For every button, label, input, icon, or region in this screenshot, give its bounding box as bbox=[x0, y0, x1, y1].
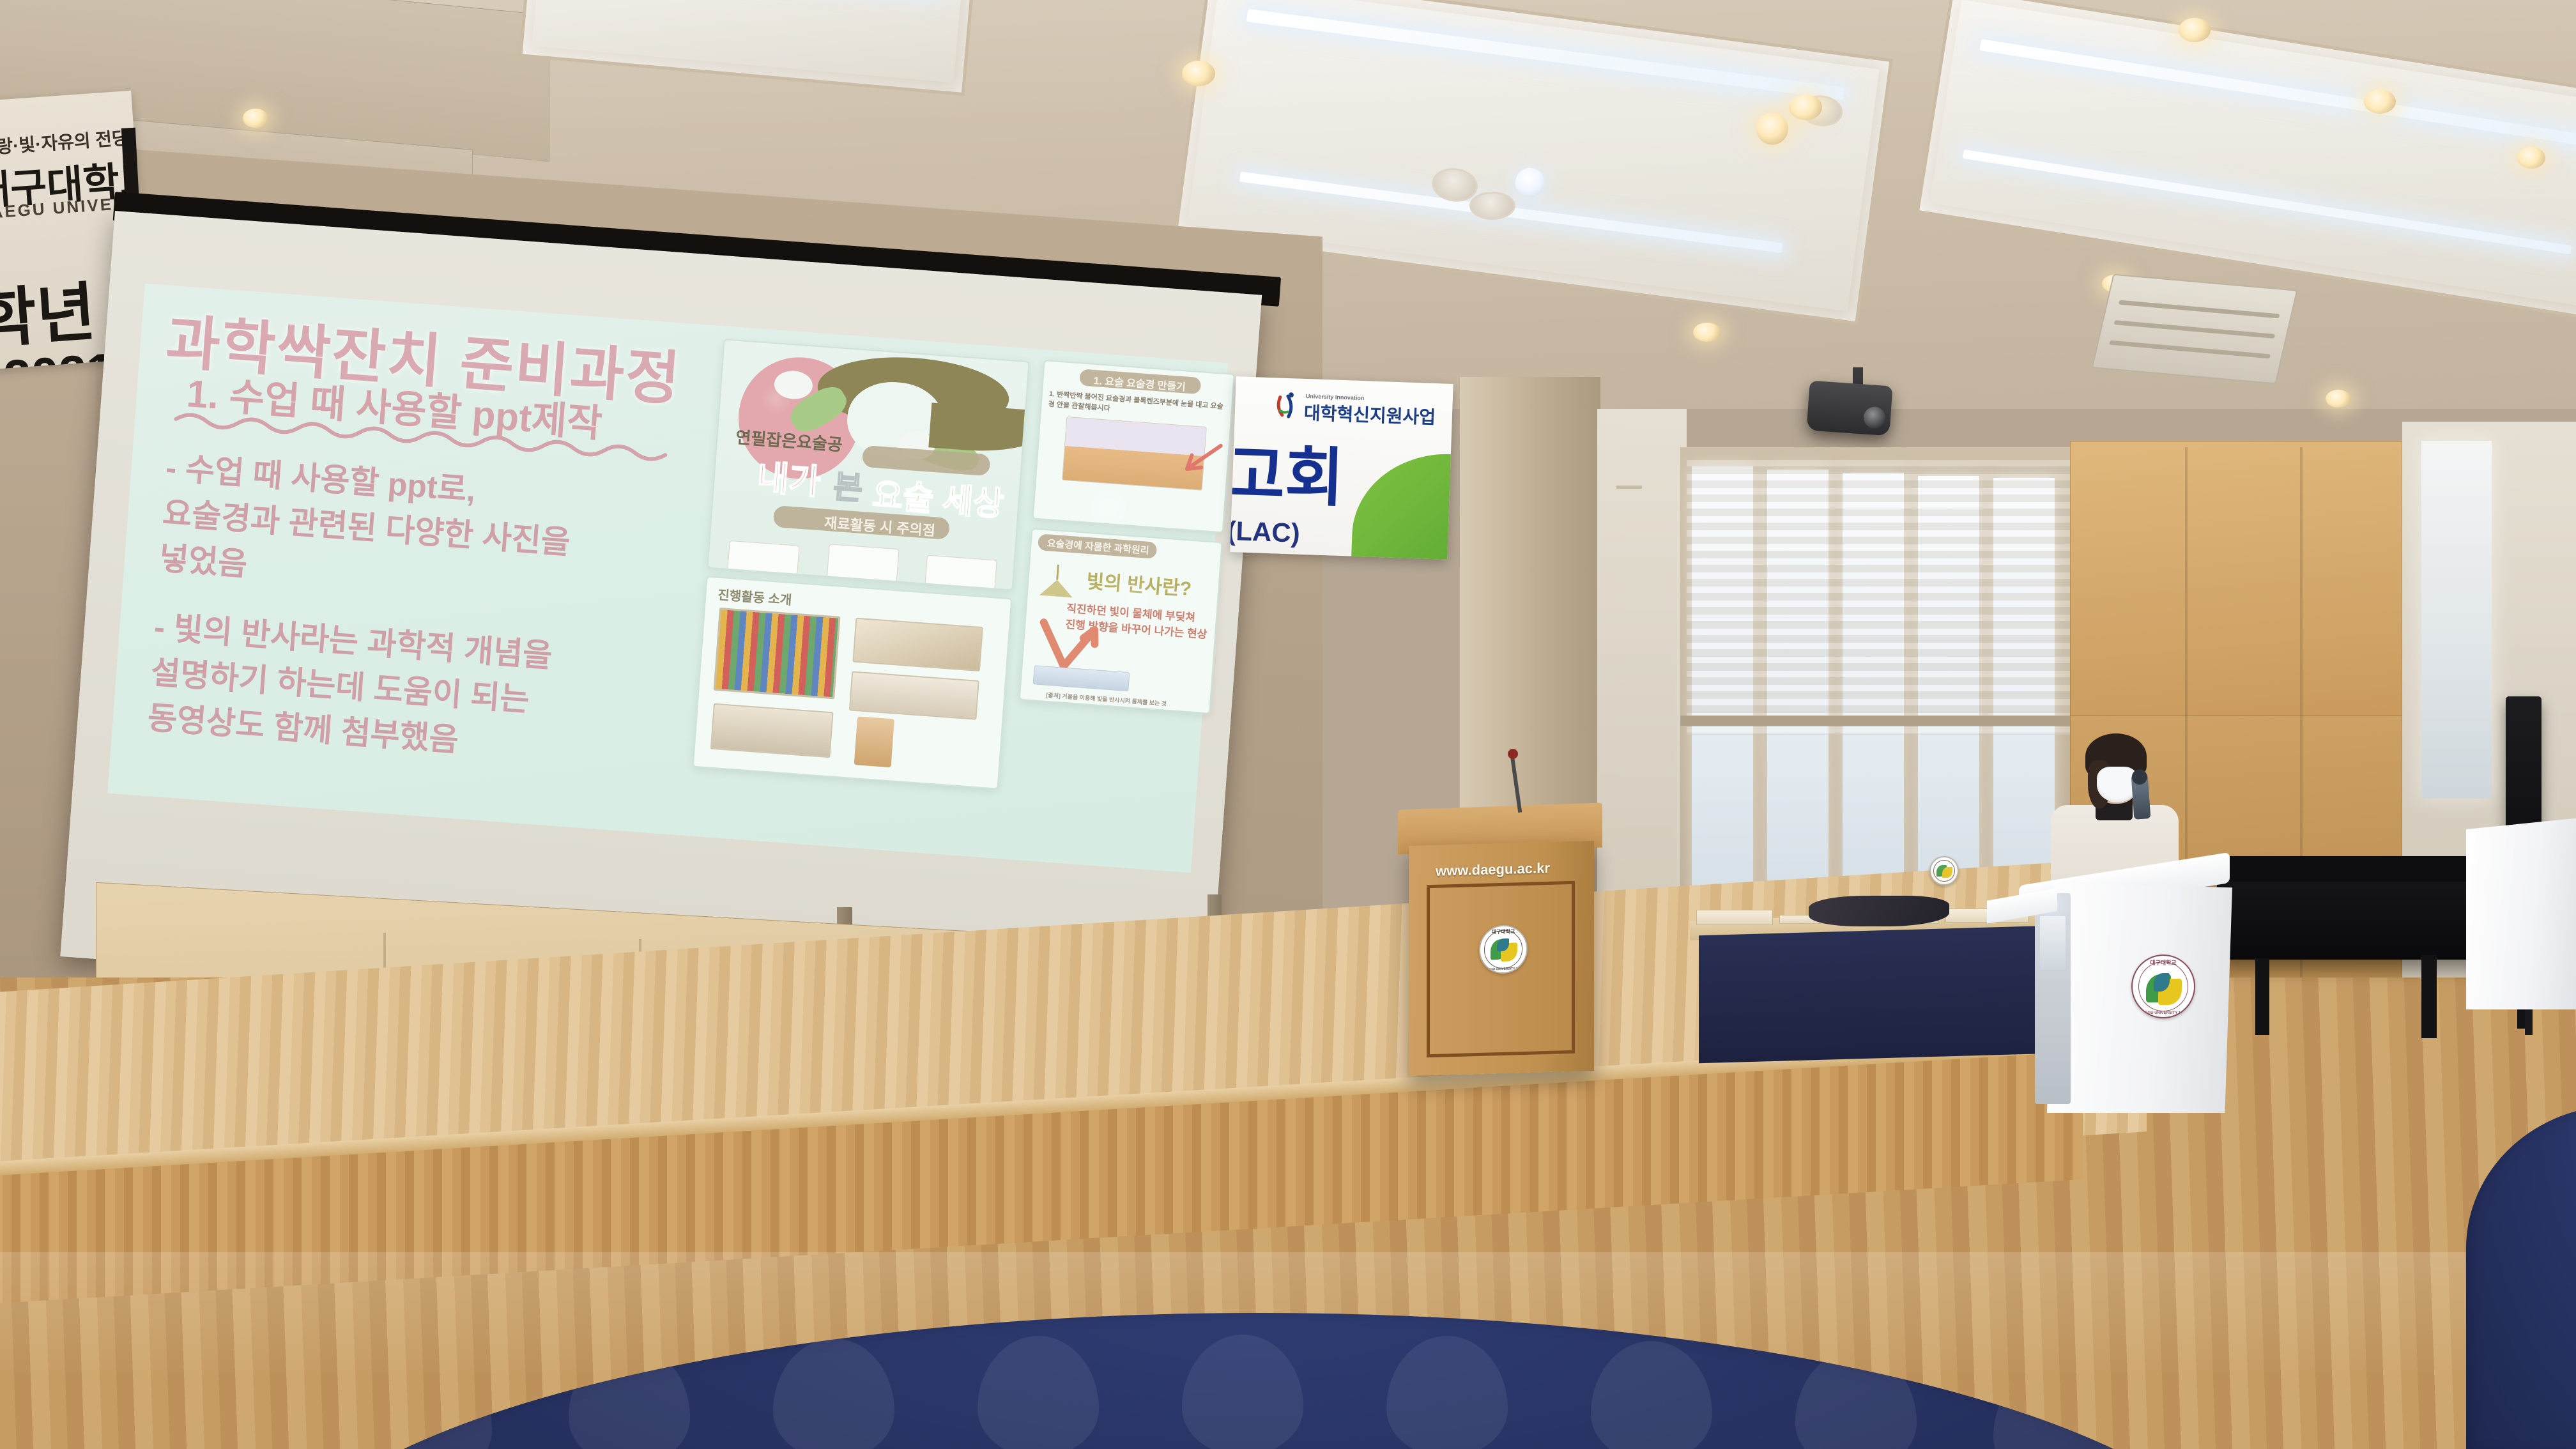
side-cabinet bbox=[2466, 818, 2576, 1009]
slide-panel-principle: 요술경에 자물한 과학원리 빛의 반사란? 직진하던 빛이 물체에 부딪쳐 진행… bbox=[1019, 528, 1223, 714]
projector-lens-icon bbox=[1863, 406, 1886, 429]
podium-microphone-icon[interactable] bbox=[1508, 749, 1518, 759]
downlight-icon bbox=[2326, 390, 2351, 408]
carpet-motif bbox=[773, 1338, 894, 1449]
window-blinds[interactable] bbox=[1687, 460, 2070, 735]
banner-title: 고회 bbox=[1230, 422, 1345, 519]
thumb-photo-tape bbox=[849, 671, 979, 719]
slide-panel-activity: 1. 요술 요술경 만들기 1. 반짝반짝 불어진 요술경과 볼록렌즈부분에 눈… bbox=[1032, 360, 1236, 533]
downlight-icon bbox=[2517, 147, 2545, 169]
table-skirt bbox=[1699, 925, 2076, 1063]
wall-seam bbox=[1616, 486, 1642, 489]
thumb-left-label: 진행활동 소개 bbox=[717, 585, 793, 608]
handheld-microphone[interactable] bbox=[2131, 774, 2151, 820]
ac-grill bbox=[2119, 300, 2280, 319]
downlight-icon bbox=[1693, 323, 1721, 342]
window-mullion bbox=[1680, 716, 2073, 726]
ac-grill bbox=[2109, 341, 2270, 359]
thumb-hero-title-b: 본 bbox=[832, 461, 864, 509]
carpet-motif bbox=[1386, 1336, 1508, 1449]
daegu-university-seal-icon: 대구대학교 DAEGU UNIVERSITY 1956 bbox=[1479, 924, 1528, 974]
thumb-mini-card bbox=[727, 540, 799, 576]
downlight-icon bbox=[2364, 89, 2396, 114]
thumb-photo-box bbox=[710, 703, 834, 758]
registration-table bbox=[1690, 914, 2086, 1061]
thumb-photo-crayons bbox=[714, 608, 841, 700]
piano-leg bbox=[2421, 955, 2437, 1038]
slide-thumbnail-materials: 진행활동 소개 bbox=[693, 576, 1013, 789]
carpet-motif bbox=[1182, 1335, 1303, 1449]
banner-subtitle: (LAC) bbox=[1230, 516, 1300, 549]
projector bbox=[1806, 381, 1892, 436]
thumb-hero-title-a: 내가 bbox=[756, 449, 823, 504]
lens-flare bbox=[760, 383, 792, 415]
downlight-icon bbox=[2179, 18, 2211, 42]
lectern-seal-text-kr: 대구대학교 bbox=[2133, 958, 2194, 967]
lectern-seal-text-en: DAEGU UNIVERSITY 1956 bbox=[2133, 1011, 2194, 1015]
slide-bullet-1: - 수업 때 사용할 ppt로, 요술경과 관련된 다양한 사진을 넣었음 bbox=[158, 445, 652, 617]
slide-thumbnail-hero: 연필잡은요술공 내가 본 요술 세상 재료활동 시 주의점 bbox=[707, 339, 1030, 590]
thumb-photo-cup bbox=[854, 716, 894, 767]
piano-leg bbox=[2255, 958, 2269, 1035]
university-innovation-logo-icon bbox=[1273, 392, 1303, 422]
ac-grill bbox=[2114, 320, 2275, 339]
white-lectern[interactable]: 대구대학교 DAEGU UNIVERSITY 1956 bbox=[2047, 883, 2232, 1113]
wall-seal-emblem-icon bbox=[1929, 856, 1959, 885]
panel-two-mirror bbox=[1033, 665, 1130, 691]
microphone-head-icon bbox=[2131, 769, 2148, 785]
window-pane-far-right bbox=[2421, 441, 2492, 799]
carpet-motif bbox=[977, 1336, 1099, 1449]
wooden-podium[interactable]: www.daegu.ac.kr 대구대학교 DAEGU UNIVERSITY 1… bbox=[1409, 841, 1594, 1076]
slide-bullet-2: - 빛의 반사라는 과학적 개념을 설명하기 하는데 도움이 되는 동영상도 함… bbox=[146, 604, 665, 778]
lectern-seal-icon: 대구대학교 DAEGU UNIVERSITY 1956 bbox=[2131, 954, 2195, 1018]
wall-wood-right-upper bbox=[2070, 441, 2402, 722]
document-stack[interactable] bbox=[1696, 910, 1773, 925]
thumb-mini-card bbox=[827, 544, 900, 583]
air-conditioner-unit bbox=[2092, 274, 2298, 385]
seal-text-kr: 대구대학교 bbox=[1480, 928, 1526, 936]
banner-green-arc bbox=[1349, 451, 1453, 560]
downlight-icon bbox=[243, 109, 268, 128]
downlight-icon bbox=[1182, 61, 1215, 86]
podium-url-text: www.daegu.ac.kr bbox=[1436, 860, 1550, 880]
slide-surface: 과학싹잔치 준비과정 1. 수업 때 사용할 ppt제작 - 수업 때 사용할 … bbox=[107, 284, 1228, 873]
lens-flare bbox=[1115, 578, 1153, 617]
lamp-icon bbox=[1034, 563, 1084, 607]
carpet-motif bbox=[1591, 1341, 1712, 1449]
auditorium-scene: 사랑·빛·자유의 전당 대구대학교 DAEGU UNIVERSITY 학년 20… bbox=[0, 0, 2576, 1449]
ceiling-vent-icon bbox=[1469, 192, 1515, 220]
lectern-control-column[interactable] bbox=[2035, 893, 2071, 1104]
lens-flare bbox=[1086, 486, 1131, 530]
downlight-icon bbox=[1789, 95, 1822, 120]
thumb-mini-card bbox=[924, 555, 997, 591]
folded-jacket bbox=[1809, 896, 1949, 926]
panel-one-arrow-icon bbox=[1172, 437, 1226, 486]
panel-two-caption: [출처] 거울을 이용해 빛을 반사시켜 물체를 보는 것 bbox=[1046, 691, 1167, 708]
lectern-control-screen[interactable] bbox=[2040, 916, 2066, 970]
thumb-photo-mirror bbox=[852, 618, 983, 671]
event-banner: University Innovation 대학혁신지원사업 고회 (LAC) bbox=[1230, 376, 1453, 560]
